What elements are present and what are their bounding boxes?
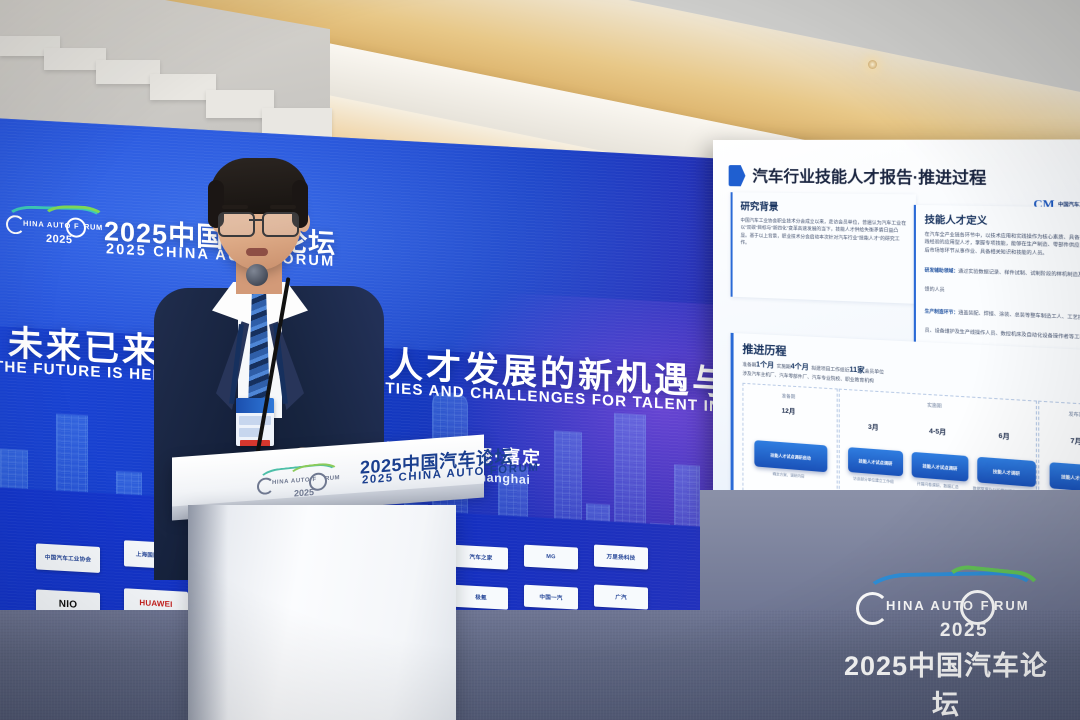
eyebrow-left [222, 205, 248, 209]
conference-badge [236, 398, 274, 446]
badge-accent [240, 440, 270, 446]
panel-research-body: 中国汽车工业协会职业技术分会成立以来，走访会员单位，普遍认为汽车工业在以"双碳"… [740, 216, 907, 250]
forum-logo-word-right: RUM [84, 222, 103, 232]
watermark-forum-logo: HINA AUTO F RUM 2025 2025中国汽车论坛 2025 CHI… [834, 568, 1058, 690]
sponsor-tile: 万里扬科技 [594, 545, 648, 570]
sponsor-tile: 中国一汽 [524, 585, 578, 610]
timeline-sub-pre-1: 实施期 [777, 363, 791, 369]
downlight-icon [868, 60, 877, 69]
timeline-sub-pre-0: 准备期 [742, 362, 756, 368]
forum-logo-year: 2025 [46, 233, 72, 246]
definition-bullet-label: 研发辅助领域： [925, 268, 959, 274]
eyeglasses-lens-right-icon [262, 212, 299, 237]
watermark-year: 2025 [870, 620, 1058, 642]
podium-logo-year: 2025 [294, 487, 314, 498]
watermark-title-cn: 2025中国汽车论坛 [834, 644, 1058, 720]
timeline-sub-pre-2: 拟建项目工作组近 [811, 365, 849, 372]
mouth [246, 248, 268, 256]
slide-title: 汽车行业技能人才报告·推进过程 [752, 164, 986, 189]
timeline-chip: 技能人才试点调研 [912, 452, 969, 482]
podium-forum-logo: HINA AUTO F RUM 2025 [254, 461, 342, 501]
watermark-word-right: RUM [994, 598, 1030, 613]
watermark-word-left: HINA AUTO F [886, 598, 991, 613]
sponsor-tile: MG [524, 545, 578, 570]
panel-definition-body: 在汽车全产业链各环节中，以技术应用和实践操作为核心素质、具备操作技能与实践经验的… [925, 230, 1080, 259]
eyeglasses-lens-left-icon [218, 212, 255, 237]
eyebrow-right [270, 205, 296, 209]
timeline-sub-num-0: 1个月 [756, 361, 774, 369]
sponsor-tile: 汽车之家 [454, 545, 508, 570]
sponsor-tile: 广汽 [594, 585, 648, 610]
podium-body [188, 505, 456, 720]
podium-logo-word-right: RUM [325, 475, 340, 482]
timeline-sub-num-2: 11家 [849, 366, 864, 374]
sponsor-tile: 极氪 [454, 585, 508, 610]
timeline-sub-post-2: 会员单位 [865, 368, 884, 374]
sponsor-tile: 中国汽车工业协会 [36, 543, 100, 573]
conference-photo: HINA AUTO F RUM 2025 2025中国汽车论坛 2025 CHI… [0, 0, 1080, 720]
eyeglasses-bridge-icon [249, 219, 263, 221]
definition-bullet-label: 生产制造环节： [925, 309, 959, 316]
timeline-sub-num-1: 4个月 [791, 363, 809, 371]
timeline-chip: 技能人才调研 [977, 457, 1036, 487]
podium-shadow-side [188, 505, 228, 720]
timeline-chip: 技能人才试点调研 [848, 447, 903, 476]
badge-line [239, 416, 271, 425]
watermark-c-ring-icon [856, 592, 889, 625]
watermark-arc-group: HINA AUTO F RUM [834, 568, 1058, 614]
panel-research-background: 研究背景 中国汽车工业协会职业技术分会成立以来，走访会员单位，普遍认为汽车工业在… [731, 192, 916, 304]
microphone-head-icon [246, 264, 268, 286]
backdrop-forum-logo: HINA AUTO F RUM 2025 [2, 202, 106, 256]
panel-definition-heading: 技能人才定义 [925, 211, 1080, 229]
panel-research-heading: 研究背景 [740, 198, 907, 215]
